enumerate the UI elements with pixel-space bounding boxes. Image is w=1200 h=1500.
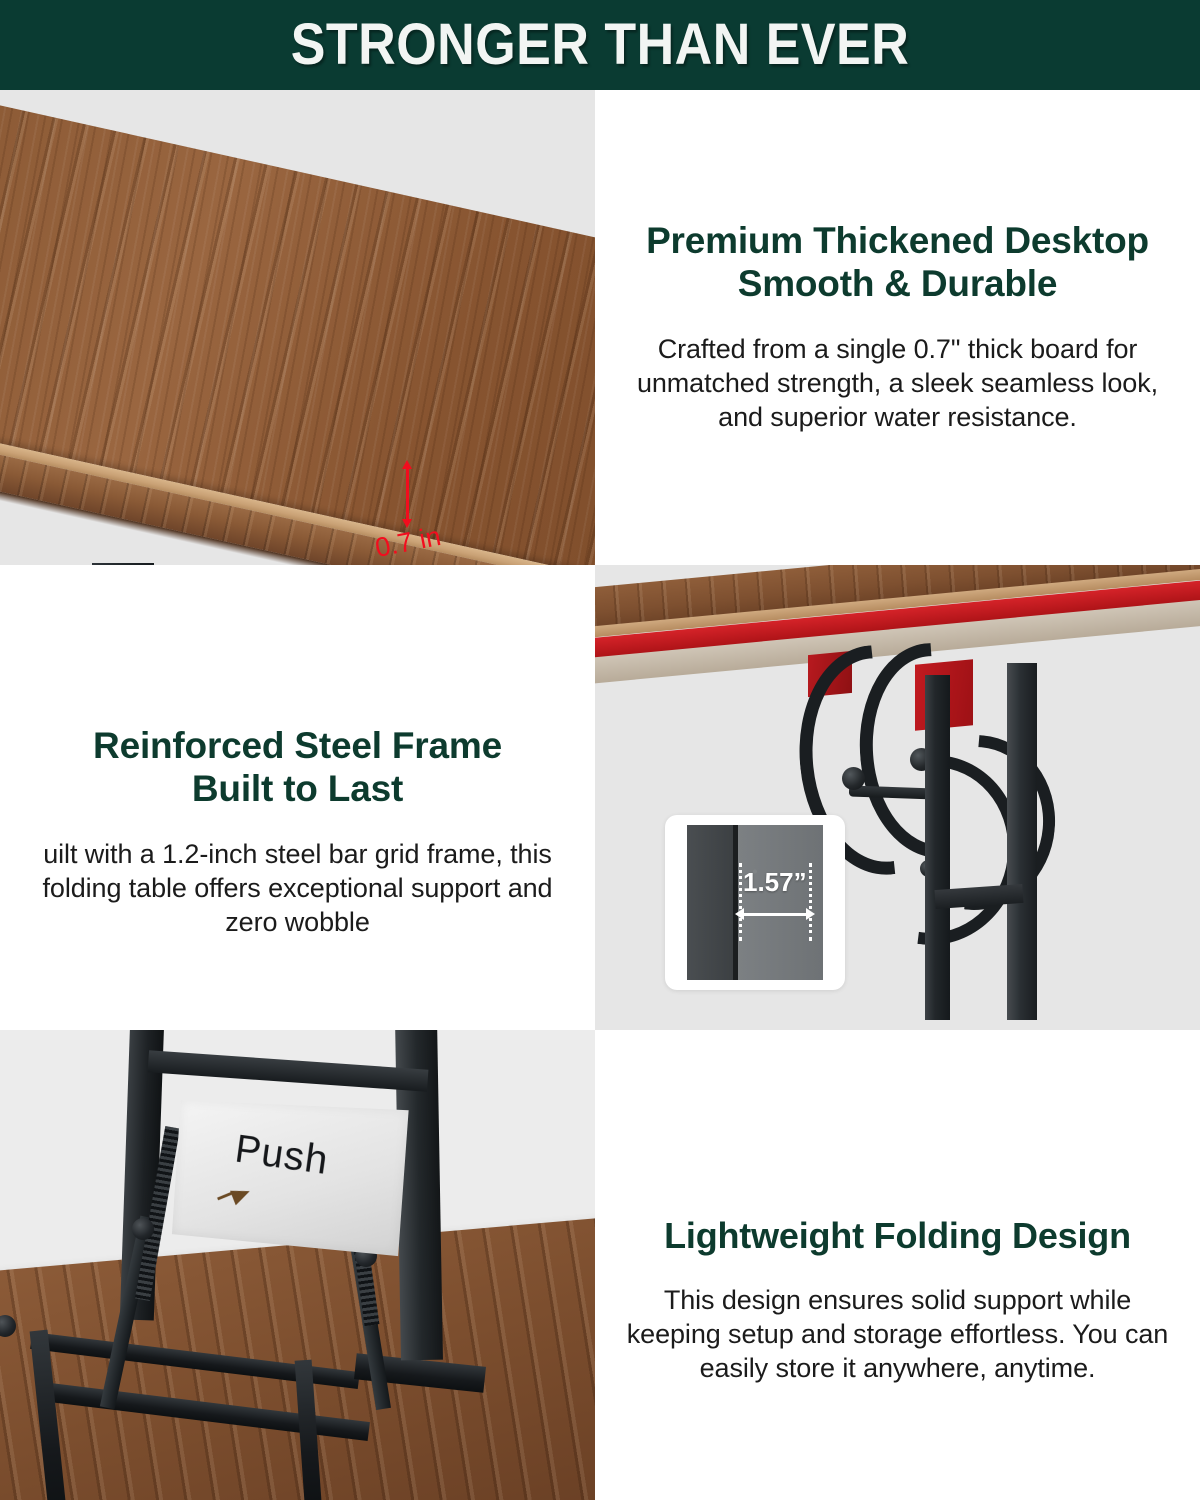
feature-3-headline: Lightweight Folding Design: [617, 1215, 1178, 1257]
steel-bar-shadow-face: [687, 825, 733, 980]
steel-bar-magnified-crop: 1.57”: [687, 825, 823, 980]
push-label: Push: [232, 1127, 331, 1184]
pivot-joint-left-icon: [842, 767, 865, 790]
desktop-text-panel: Premium Thickened Desktop Smooth & Durab…: [595, 90, 1200, 565]
feature-3-headline-line1: Lightweight Folding Design: [617, 1215, 1178, 1257]
steel-frame-photo: 1.57”: [595, 565, 1200, 1030]
folding-mechanism: 1.57”: [595, 565, 1200, 1030]
feature-1-headline-line1: Premium Thickened Desktop: [617, 220, 1178, 263]
leg-crossbar-top: [148, 1050, 429, 1091]
feature-3-body: This design ensures solid support while …: [617, 1283, 1178, 1386]
feature-2-body: uilt with a 1.2-inch steel bar grid fram…: [22, 837, 573, 940]
header-banner: STRONGER THAN EVER: [0, 0, 1200, 90]
push-arrow-icon: [230, 1184, 253, 1206]
push-label-plate: Push: [172, 1100, 409, 1256]
feature-2-headline: Reinforced Steel Frame Built to Last: [22, 725, 573, 811]
folding-design-photo: Push: [0, 1030, 595, 1500]
measure-guide-left: [739, 863, 742, 941]
feature-1-headline: Premium Thickened Desktop Smooth & Durab…: [617, 220, 1178, 306]
feature-2-headline-line2: Built to Last: [22, 768, 573, 811]
thickness-dimension-arrow-icon: [406, 468, 409, 520]
hinge-knuckle-left-icon: [132, 1218, 154, 1240]
banner-title: STRONGER THAN EVER: [291, 11, 910, 78]
desktop-thickness-photo: 0.7 in: [0, 90, 595, 565]
width-dimension-arrow-icon: [743, 913, 807, 916]
feature-1-headline-line2: Smooth & Durable: [617, 263, 1178, 306]
folding-design-text-panel: Lightweight Folding Design This design e…: [595, 1030, 1200, 1500]
feature-2-headline-line1: Reinforced Steel Frame: [22, 725, 573, 768]
steel-bar-width-callout: 1.57”: [665, 815, 845, 990]
steel-leg-front: [925, 675, 950, 1020]
tabletop-corner: [0, 90, 595, 565]
steel-leg-back: [1007, 663, 1037, 1020]
feature-1-body: Crafted from a single 0.7" thick board f…: [617, 332, 1178, 435]
measure-guide-right: [809, 863, 812, 941]
product-infographic: STRONGER THAN EVER 0.7 in Premium Thicke…: [0, 0, 1200, 1500]
folded-tabletop-board: [0, 1217, 595, 1500]
steel-bar-width-label: 1.57”: [743, 867, 807, 898]
steel-frame-text-panel: Reinforced Steel Frame Built to Last uil…: [0, 565, 595, 1030]
folded-table: Push: [0, 1030, 595, 1500]
